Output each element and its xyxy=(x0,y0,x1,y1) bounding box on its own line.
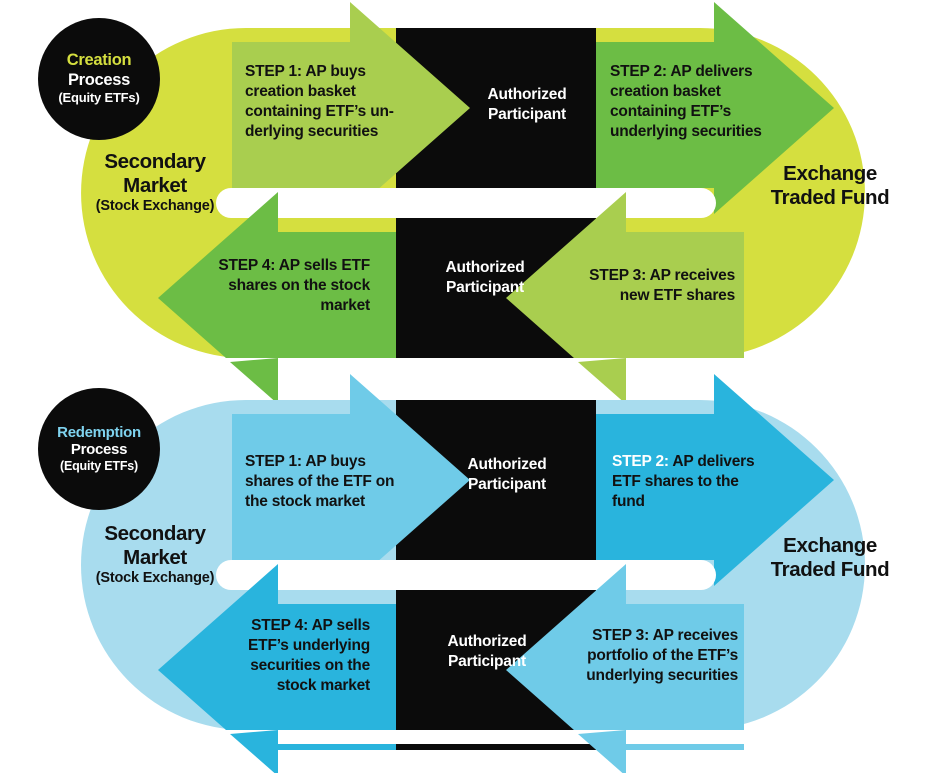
redemption-ap-label-top: Authorized Participant xyxy=(432,455,582,496)
redemption-step1-line1: STEP 1: AP buys xyxy=(245,452,430,472)
creation-ap-bottom-line2: Participant xyxy=(410,278,560,298)
redemption-step2-line2: ETF shares to the xyxy=(612,472,797,492)
creation-step3-text: STEP 3: AP receives new ETF shares xyxy=(555,266,735,306)
redemption-ap-bottom-line1: Authorized xyxy=(412,632,562,652)
creation-ap-label-bottom: Authorized Participant xyxy=(410,258,560,299)
creation-step4-line3: market xyxy=(190,296,370,316)
redemption-step3-line3: underlying securities xyxy=(548,666,738,686)
redemption-step1-line2: shares of the ETF on xyxy=(245,472,430,492)
creation-step1-line2: creation basket xyxy=(245,82,425,102)
creation-badge-line1: Creation xyxy=(67,51,132,70)
creation-step2-line2: creation basket xyxy=(610,82,795,102)
redemption-left-line2: Market xyxy=(60,546,250,570)
redemption-step3-text: STEP 3: AP receives portfolio of the ETF… xyxy=(548,626,738,686)
redemption-step3-line1: STEP 3: AP receives xyxy=(548,626,738,646)
creation-badge-line3: (Equity ETFs) xyxy=(58,90,139,106)
redemption-step4-line4: stock market xyxy=(205,676,370,696)
creation-left-line2: Market xyxy=(60,174,250,198)
redemption-step1-line3: the stock market xyxy=(245,492,430,512)
redemption-left-line1: Secondary xyxy=(60,522,250,546)
creation-left-line1: Secondary xyxy=(60,150,250,174)
creation-left-line3: (Stock Exchange) xyxy=(60,198,250,215)
redemption-ap-bottom-line2: Participant xyxy=(412,652,562,672)
creation-step4-line1: STEP 4: AP sells ETF xyxy=(190,256,370,276)
redemption-badge-line1: Redemption xyxy=(57,424,141,442)
creation-ap-top-line2: Participant xyxy=(452,105,602,125)
redemption-step2-text: STEP 2: AP delivers ETF shares to the fu… xyxy=(612,452,797,512)
creation-step4-line2: shares on the stock xyxy=(190,276,370,296)
etf-process-diagram: Creation Process (Equity ETFs) Secondary… xyxy=(0,0,934,773)
redemption-step2-line1: STEP 2: AP delivers xyxy=(612,452,797,472)
creation-step1-line4: derlying securities xyxy=(245,122,425,142)
redemption-step4-line2: ETF’s underlying xyxy=(205,636,370,656)
creation-step2-line3: containing ETF’s xyxy=(610,102,795,122)
redemption-secondary-market-label: Secondary Market (Stock Exchange) xyxy=(60,522,250,587)
creation-ap-label-top: Authorized Participant xyxy=(452,85,602,126)
creation-step2-text: STEP 2: AP delivers creation basket cont… xyxy=(610,62,795,143)
redemption-step4-line1: STEP 4: AP sells xyxy=(205,616,370,636)
creation-step1-line1: STEP 1: AP buys xyxy=(245,62,425,82)
redemption-ap-top-line2: Participant xyxy=(432,475,582,495)
redemption-step2-rest: AP delivers xyxy=(669,453,754,470)
redemption-badge-line3: (Equity ETFs) xyxy=(60,459,138,475)
row-separator-band-redemption xyxy=(216,560,716,590)
redemption-step1-text: STEP 1: AP buys shares of the ETF on the… xyxy=(245,452,430,512)
creation-step1-text: STEP 1: AP buys creation basket containi… xyxy=(245,62,425,143)
creation-step2-line1: STEP 2: AP delivers xyxy=(610,62,795,82)
redemption-badge-line2: Process xyxy=(71,441,127,459)
creation-step1-line3: containing ETF’s un- xyxy=(245,102,425,122)
redemption-process-badge: Redemption Process (Equity ETFs) xyxy=(38,388,160,510)
creation-badge-line2: Process xyxy=(68,71,130,90)
creation-etf-label: Exchange Traded Fund xyxy=(740,162,920,210)
redemption-left-line3: (Stock Exchange) xyxy=(60,570,250,587)
redemption-right-line1: Exchange xyxy=(740,534,920,558)
redemption-step3-line2: portfolio of the ETF’s xyxy=(548,646,738,666)
creation-right-line2: Traded Fund xyxy=(740,186,920,210)
redemption-ap-label-bottom: Authorized Participant xyxy=(412,632,562,673)
redemption-etf-label: Exchange Traded Fund xyxy=(740,534,920,582)
creation-step4-text: STEP 4: AP sells ETF shares on the stock… xyxy=(190,256,370,316)
creation-process-badge: Creation Process (Equity ETFs) xyxy=(38,18,160,140)
redemption-step4-text: STEP 4: AP sells ETF’s underlying securi… xyxy=(205,616,370,697)
creation-step2-line4: underlying securities xyxy=(610,122,795,142)
redemption-ap-top-line1: Authorized xyxy=(432,455,582,475)
creation-right-line1: Exchange xyxy=(740,162,920,186)
redemption-step2-line3: fund xyxy=(612,492,797,512)
creation-ap-top-line1: Authorized xyxy=(452,85,602,105)
redemption-step2-prefix: STEP 2: xyxy=(612,453,669,470)
redemption-step4-line3: securities on the xyxy=(205,656,370,676)
creation-secondary-market-label: Secondary Market (Stock Exchange) xyxy=(60,150,250,215)
redemption-right-line2: Traded Fund xyxy=(740,558,920,582)
creation-step3-line2: new ETF shares xyxy=(555,286,735,306)
creation-ap-bottom-line1: Authorized xyxy=(410,258,560,278)
creation-step3-line1: STEP 3: AP receives xyxy=(555,266,735,286)
